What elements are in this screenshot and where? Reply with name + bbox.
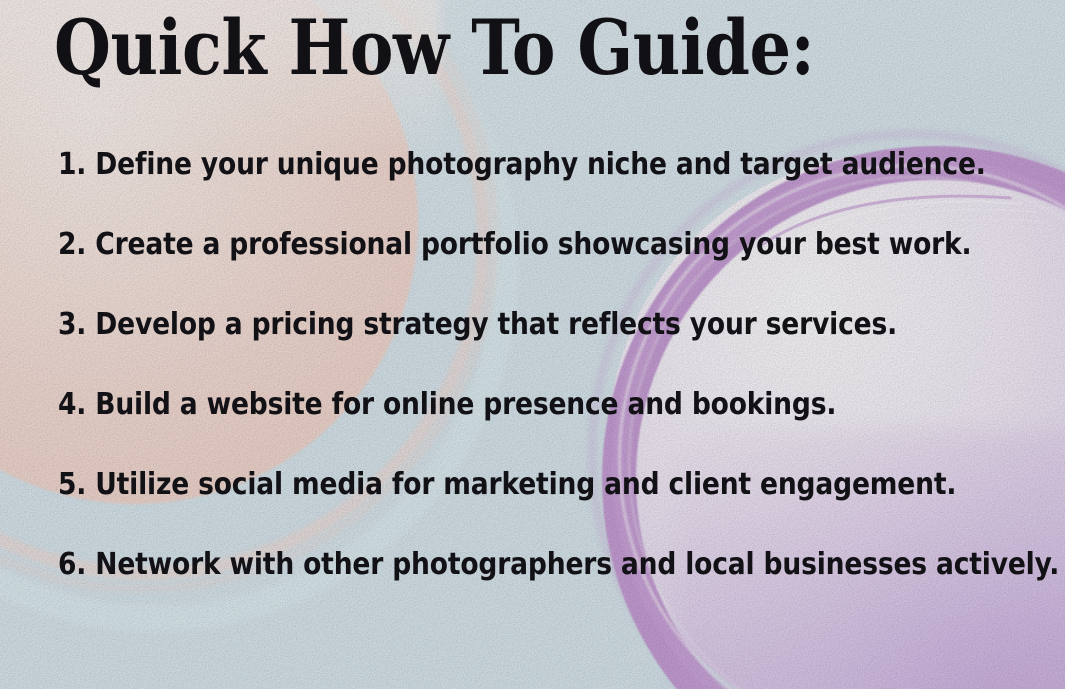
step-text: 6. Network with other photographers and … xyxy=(58,550,1059,580)
step-text: 4. Build a website for online presence a… xyxy=(58,390,836,420)
step-text: 5. Utilize social media for marketing an… xyxy=(58,470,956,500)
list-item: 2. Create a professional portfolio showc… xyxy=(58,230,998,310)
step-text: 3. Develop a pricing strategy that refle… xyxy=(58,310,897,340)
step-text: 1. Define your unique photography niche … xyxy=(58,150,986,180)
list-item: 4. Build a website for online presence a… xyxy=(58,390,998,470)
poster-content: Quick How To Guide: 1. Define your uniqu… xyxy=(0,0,1065,689)
step-text: 2. Create a professional portfolio showc… xyxy=(58,230,971,260)
page-title: Quick How To Guide: xyxy=(54,10,814,86)
list-item: 6. Network with other photographers and … xyxy=(58,550,998,630)
steps-list: 1. Define your unique photography niche … xyxy=(58,150,998,630)
list-item: 1. Define your unique photography niche … xyxy=(58,150,998,230)
list-item: 5. Utilize social media for marketing an… xyxy=(58,470,998,550)
poster-canvas: Quick How To Guide: 1. Define your uniqu… xyxy=(0,0,1065,689)
list-item: 3. Develop a pricing strategy that refle… xyxy=(58,310,998,390)
